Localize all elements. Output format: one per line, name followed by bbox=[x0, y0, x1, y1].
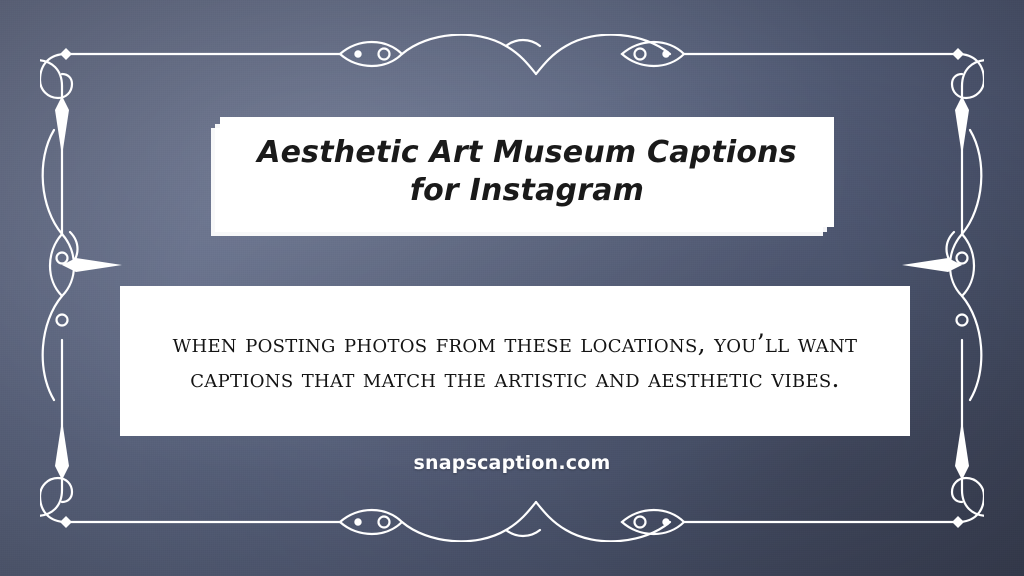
site-url: snapscaption.com bbox=[0, 452, 1024, 474]
title-card: Aesthetic Art Museum Captions for Instag… bbox=[220, 117, 834, 227]
body-card: When posting photos from these locations… bbox=[120, 286, 910, 436]
page-title: Aesthetic Art Museum Captions for Instag… bbox=[220, 134, 834, 211]
body-paragraph: When posting photos from these locations… bbox=[120, 326, 910, 397]
graphic-canvas: Aesthetic Art Museum Captions for Instag… bbox=[0, 0, 1024, 576]
